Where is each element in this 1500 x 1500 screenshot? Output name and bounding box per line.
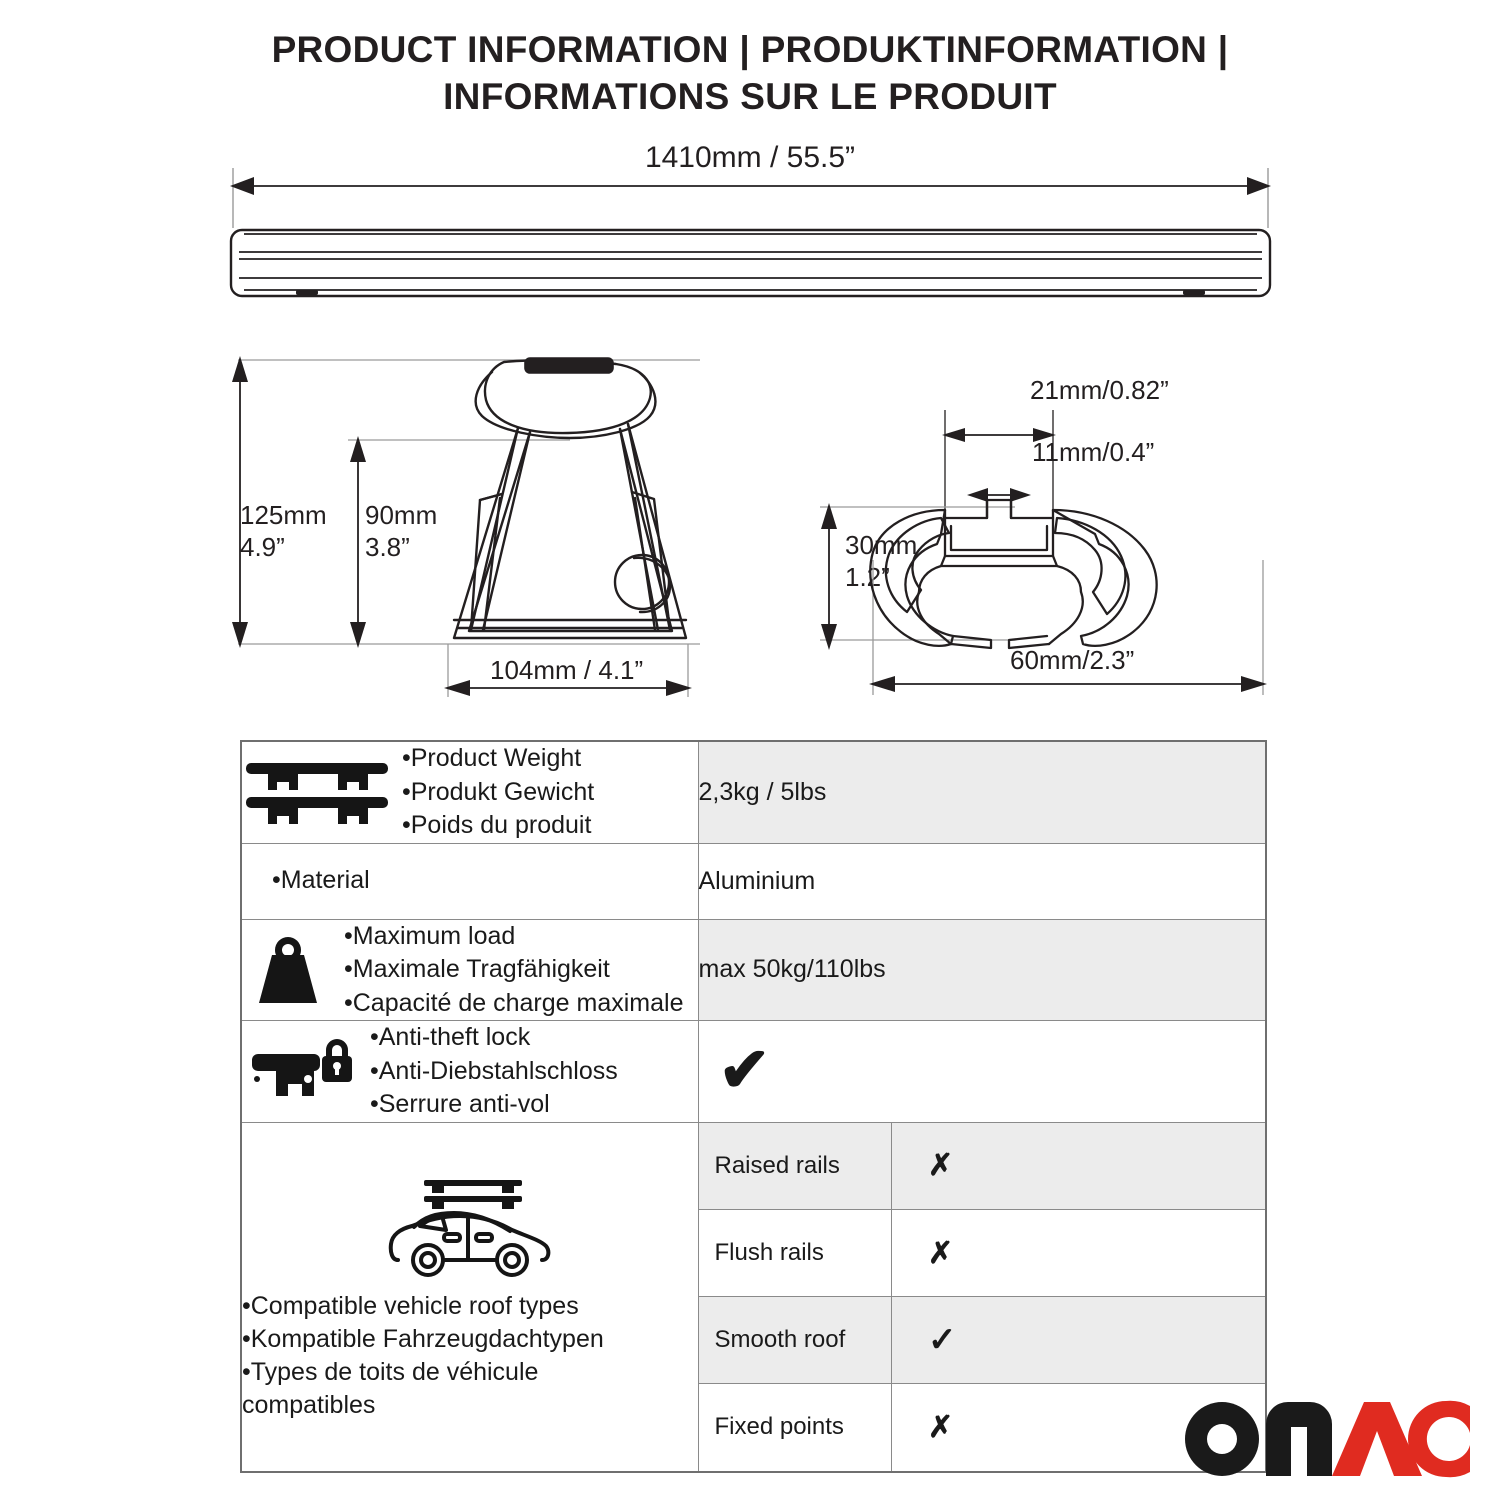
label-line: •Compatible vehicle roof types — [242, 1290, 604, 1323]
roof-type-mark: ✗ — [892, 1123, 1266, 1210]
label-line: •Types de toits de véhicule — [242, 1356, 604, 1389]
row-label-text: •Anti-theft lock •Anti-Diebstahlschloss … — [370, 1021, 698, 1122]
table-row-maximum-load: •Maximum load •Maximale Tragfähigkeit •C… — [241, 919, 1266, 1021]
row-label-cell: •Anti-theft lock •Anti-Diebstahlschloss … — [241, 1021, 698, 1123]
cross-icon: ✗ — [908, 1411, 953, 1444]
omac-logo-mark — [1182, 1400, 1472, 1478]
roof-type-mark: ✗ — [892, 1210, 1266, 1297]
label-line: •Maximale Tragfähigkeit — [344, 953, 698, 987]
roof-type-label: Smooth roof — [699, 1297, 892, 1384]
label-line: •Anti-Diebstahlschloss — [370, 1055, 698, 1089]
cross-icon: ✗ — [908, 1149, 953, 1182]
label-line: •Produkt Gewicht — [402, 776, 698, 810]
row-value-weight: 2,3kg / 5lbs — [698, 741, 1266, 843]
omac-logo — [1182, 1400, 1472, 1478]
table-row-anti-theft-lock: •Anti-theft lock •Anti-Diebstahlschloss … — [241, 1021, 1266, 1123]
check-mark: ✔ — [699, 1040, 1266, 1102]
row-label-text: •Product Weight •Produkt Gewicht •Poids … — [402, 742, 698, 843]
cross-icon: ✗ — [908, 1237, 953, 1270]
label-line: •Maximum load — [344, 920, 698, 954]
label-line: •Kompatible Fahrzeugdachtypen — [242, 1323, 604, 1356]
row-value-anti-theft-lock: ✔ — [698, 1021, 1266, 1123]
table-row-product-weight: •Product Weight •Produkt Gewicht •Poids … — [241, 741, 1266, 843]
car-with-bars-icon — [384, 1172, 556, 1280]
label-line: compatibles — [242, 1389, 604, 1422]
row-label-cell: •Maximum load •Maximale Tragfähigkeit •C… — [241, 919, 698, 1021]
check-icon: ✓ — [908, 1321, 957, 1359]
label-line: •Serrure anti-vol — [370, 1088, 698, 1122]
roof-type-label: Flush rails — [699, 1210, 892, 1297]
roof-type-row-flush-rails: Flush rails ✗ — [699, 1210, 1266, 1297]
table-row-material: •Material Aluminium — [241, 843, 1266, 919]
row-value-maximum-load: max 50kg/110lbs — [698, 919, 1266, 1021]
product-information-sheet: PRODUCT INFORMATION | PRODUKTINFORMATION… — [0, 0, 1500, 1500]
row-label-text: •Maximum load •Maximale Tragfähigkeit •C… — [344, 920, 698, 1021]
specification-table: •Product Weight •Produkt Gewicht •Poids … — [240, 740, 1267, 1473]
roof-type-label: Raised rails — [699, 1123, 892, 1210]
label-line: •Capacité de charge maximale — [344, 987, 698, 1021]
label-line: •Anti-theft lock — [370, 1021, 698, 1055]
roof-type-label: Fixed points — [699, 1384, 892, 1471]
roof-types-label-text: •Compatible vehicle roof types •Kompatib… — [242, 1290, 604, 1422]
row-label-cell: •Product Weight •Produkt Gewicht •Poids … — [241, 741, 698, 843]
roof-types-label-cell: •Compatible vehicle roof types •Kompatib… — [241, 1122, 698, 1472]
bar-cross-section — [815, 400, 1280, 695]
roof-types-sub-table-cell: Raised rails ✗ Flush rails ✗ — [698, 1122, 1266, 1472]
table-row-roof-types: •Compatible vehicle roof types •Kompatib… — [241, 1122, 1266, 1472]
label-line: •Product Weight — [402, 742, 698, 776]
label-line: •Material — [272, 864, 698, 898]
mounting-foot-front-view — [230, 352, 700, 697]
roof-types-table: Raised rails ✗ Flush rails ✗ — [699, 1123, 1266, 1471]
roof-bar-side-view — [228, 168, 1273, 308]
label-line: •Poids du produit — [402, 809, 698, 843]
roof-type-mark: ✓ — [892, 1297, 1266, 1384]
roof-type-row-smooth-roof: Smooth roof ✓ — [699, 1297, 1266, 1384]
roof-type-row-raised-rails: Raised rails ✗ — [699, 1123, 1266, 1210]
roof-type-row-fixed-points: Fixed points ✗ — [699, 1384, 1266, 1471]
row-label-text: •Material — [242, 864, 698, 898]
title-line-2: INFORMATIONS SUR LE PRODUIT — [0, 73, 1500, 120]
lock-icon — [242, 1036, 360, 1106]
roof-bars-icon — [242, 757, 392, 827]
weight-icon — [242, 933, 334, 1007]
row-label-cell: •Material — [241, 843, 698, 919]
row-value-material: Aluminium — [698, 843, 1266, 919]
title-line-1: PRODUCT INFORMATION | PRODUKTINFORMATION… — [0, 26, 1500, 73]
page-title: PRODUCT INFORMATION | PRODUKTINFORMATION… — [0, 26, 1500, 121]
